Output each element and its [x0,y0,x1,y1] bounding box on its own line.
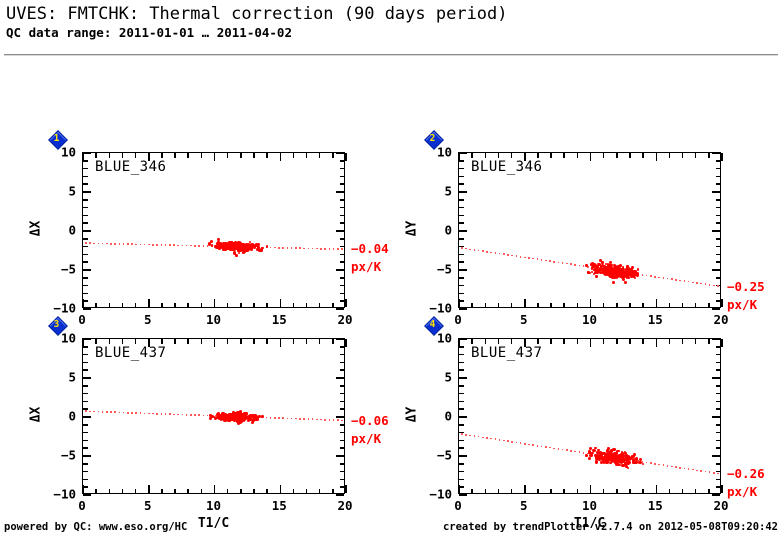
panel-badge-1[interactable]: 1 [48,130,65,147]
panel-title: BLUE_437 [471,345,542,361]
y-tick [336,308,344,310]
x-tick-label: 15 [648,312,663,327]
y-axis-title: ΔX [29,375,44,455]
x-tick [345,153,347,161]
slope-value: −0.06 [351,413,389,428]
panel-title: BLUE_346 [471,159,542,175]
data-points [459,339,720,493]
x-tick [721,153,723,161]
y-tick-label: −10 [42,301,76,316]
x-tick-label: 5 [144,498,152,513]
x-tick-label: 15 [648,498,663,513]
page-title: UVES: FMTCHK: Thermal correction (90 day… [6,4,776,24]
y-tick [459,494,467,496]
slope-unit: px/K [727,297,757,312]
y-axis-title: ΔY [405,375,420,455]
plot-page: UVES: FMTCHK: Thermal correction (90 day… [0,0,782,542]
slope-value: −0.26 [727,466,765,481]
data-points [83,153,344,307]
y-axis-title: ΔY [405,189,420,269]
x-tick-label: 15 [272,498,287,513]
y-tick [336,494,344,496]
plot-panel-1: BLUE_346051015201050−5−10ΔX−0.04px/K1 [82,152,345,308]
y-tick-label: 5 [418,184,452,199]
y-tick [459,308,467,310]
y-tick-label: 5 [418,370,452,385]
y-tick [83,308,91,310]
panel-title: BLUE_346 [95,159,166,175]
y-axis-title: ΔX [29,189,44,269]
y-tick-label: 5 [42,184,76,199]
plot-panel-3: BLUE_437051015201050−5−10ΔXT1/C−0.06px/K… [82,338,345,494]
x-tick-label: 10 [582,312,597,327]
x-tick-label: 10 [206,312,221,327]
footer-left: powered by QC: www.eso.org/HC [4,521,187,533]
y-tick [712,308,720,310]
x-tick [721,299,723,307]
data-points [459,153,720,307]
plot-frame: BLUE_437 [458,338,721,494]
panel-title: BLUE_437 [95,345,166,361]
x-tick-label: 20 [713,498,728,513]
x-tick-label: 10 [206,498,221,513]
y-tick-label: −10 [418,487,452,502]
y-tick-label: 0 [42,223,76,238]
y-tick-label: 0 [42,409,76,424]
slope-unit: px/K [351,259,381,274]
y-tick-label: −10 [42,487,76,502]
slope-value: −0.04 [351,241,389,256]
plot-frame: BLUE_437 [82,338,345,494]
panel-badge-2[interactable]: 2 [424,130,441,147]
plot-panel-4: BLUE_437051015201050−5−10ΔYT1/C−0.26px/K… [458,338,721,494]
x-tick-label: 5 [144,312,152,327]
panel-badge-3[interactable]: 3 [48,316,65,333]
y-tick-label: −5 [418,262,452,277]
panel-badge-4[interactable]: 4 [424,316,441,333]
x-tick-label: 0 [454,498,462,513]
y-tick [712,494,720,496]
badge-number: 1 [48,130,65,147]
slope-unit: px/K [351,431,381,446]
data-points [83,339,344,493]
header: UVES: FMTCHK: Thermal correction (90 day… [6,4,776,40]
x-tick [345,299,347,307]
y-tick-label: −5 [418,448,452,463]
slope-value: −0.25 [727,279,765,294]
x-tick-label: 15 [272,312,287,327]
x-tick [721,485,723,493]
y-tick-label: −10 [418,301,452,316]
badge-number: 2 [424,130,441,147]
plot-frame: BLUE_346 [82,152,345,308]
slope-unit: px/K [727,484,757,499]
y-tick-label: 0 [418,409,452,424]
x-tick [721,339,723,347]
badge-number: 3 [48,316,65,333]
footer-right: created by trendPlotter v2.7.4 on 2012-0… [443,521,778,533]
x-tick-label: 5 [520,498,528,513]
x-tick-label: 20 [337,312,352,327]
y-tick [83,494,91,496]
x-tick-label: 10 [582,498,597,513]
x-tick [345,485,347,493]
y-tick-label: −5 [42,448,76,463]
badge-number: 4 [424,316,441,333]
x-tick-label: 0 [78,498,86,513]
y-tick-label: 0 [418,223,452,238]
plot-panel-2: BLUE_346051015201050−5−10ΔY−0.25px/K2 [458,152,721,308]
x-tick-label: 0 [454,312,462,327]
y-tick-label: −5 [42,262,76,277]
x-tick-label: 20 [713,312,728,327]
x-tick [345,339,347,347]
x-tick-label: 0 [78,312,86,327]
x-tick-label: 5 [520,312,528,327]
y-tick-label: 5 [42,370,76,385]
header-divider [4,54,778,56]
x-tick-label: 20 [337,498,352,513]
page-subtitle: QC data range: 2011-01-01 … 2011-04-02 [6,25,776,40]
plot-frame: BLUE_346 [458,152,721,308]
x-axis-title: T1/C [198,516,229,531]
